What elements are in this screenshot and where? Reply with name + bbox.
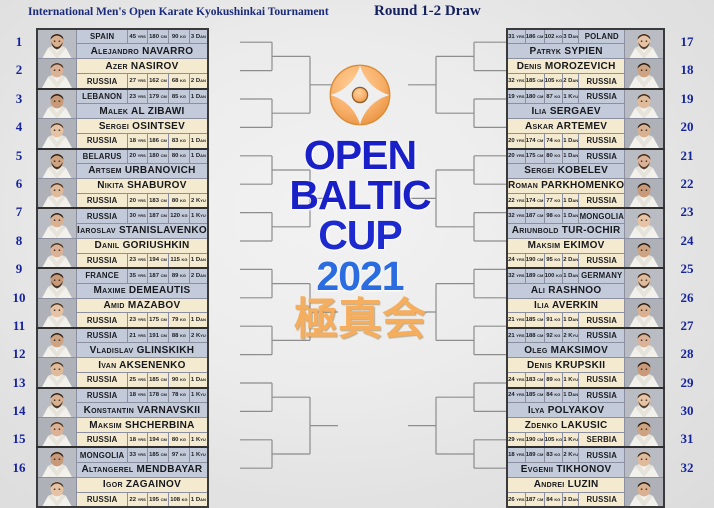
rank-cell: 1 Kyu xyxy=(189,208,208,223)
seed-number: 22 xyxy=(676,170,698,198)
table-row[interactable]: 31 yrs186 cm102 kg3 DanPOLAND xyxy=(507,29,664,44)
age-cell: 25 yrs xyxy=(128,373,148,388)
country-cell: RUSSIA xyxy=(77,433,128,448)
athlete-name: Patryk SYPIEN xyxy=(507,44,625,59)
athlete-name: Zdenko LAKUSIC xyxy=(507,418,625,433)
seed-number: 19 xyxy=(676,85,698,113)
age-cell: 32 yrs xyxy=(507,208,525,223)
table-row[interactable]: MONGOLIA33 yrs185 cm97 kg1 Kyu xyxy=(37,447,208,462)
athlete-name: Maksim SHCHERBINA xyxy=(77,418,208,433)
athlete-photo xyxy=(37,59,77,89)
athlete-photo xyxy=(37,418,77,448)
country-cell: LEBANON xyxy=(77,89,128,104)
athlete-name: Ilia AVERKIN xyxy=(507,298,625,313)
country-cell: RUSSIA xyxy=(77,74,128,89)
height-cell: 175 cm xyxy=(147,313,168,328)
table-row[interactable]: 19 yrs180 cm87 kg1 KyuRUSSIA xyxy=(507,89,664,104)
seed-number: 27 xyxy=(676,312,698,340)
height-cell: 185 cm xyxy=(147,373,168,388)
height-cell: 180 cm xyxy=(147,29,168,44)
weight-cell: 84 kg xyxy=(544,388,563,403)
country-cell: RUSSIA xyxy=(77,313,128,328)
height-cell: 174 cm xyxy=(525,193,544,208)
age-cell: 45 yrs xyxy=(128,29,148,44)
country-cell: BELARUS xyxy=(77,149,128,164)
country-cell: RUSSIA xyxy=(77,193,128,208)
table-row[interactable]: FRANCE35 yrs187 cm89 kg2 Dan xyxy=(37,268,208,283)
table-row[interactable]: 20 yrs175 cm80 kg1 DanRUSSIA xyxy=(507,149,664,164)
athlete-photo xyxy=(625,119,665,149)
height-cell: 178 cm xyxy=(147,388,168,403)
athlete-photo xyxy=(625,238,665,268)
seed-number: 23 xyxy=(676,198,698,226)
logo-line-4: 2021 xyxy=(276,256,444,296)
country-cell: RUSSIA xyxy=(579,373,625,388)
height-cell: 188 cm xyxy=(525,328,544,343)
rank-cell: 3 Dan xyxy=(563,492,579,507)
height-cell: 191 cm xyxy=(147,328,168,343)
age-cell: 30 yrs xyxy=(128,208,148,223)
height-cell: 180 cm xyxy=(525,89,544,104)
table-row[interactable]: Askar ARTEMEV xyxy=(507,119,664,134)
height-cell: 180 cm xyxy=(147,149,168,164)
country-cell: POLAND xyxy=(579,29,625,44)
height-cell: 190 cm xyxy=(525,253,544,268)
weight-cell: 80 kg xyxy=(169,193,190,208)
athlete-name: Sergei KOBELEV xyxy=(507,164,625,179)
weight-cell: 85 kg xyxy=(169,89,190,104)
rank-cell: 1 Dan xyxy=(189,149,208,164)
logo-line-3: CUP xyxy=(276,215,444,255)
table-row[interactable]: BELARUS20 yrs180 cm80 kg1 Dan xyxy=(37,149,208,164)
seed-number: 4 xyxy=(8,113,30,141)
country-cell: FRANCE xyxy=(77,268,128,283)
height-cell: 179 cm xyxy=(147,89,168,104)
age-cell: 32 yrs xyxy=(507,74,525,89)
age-cell: 20 yrs xyxy=(128,193,148,208)
athlete-photo xyxy=(37,29,77,59)
height-cell: 162 cm xyxy=(147,74,168,89)
seed-number: 18 xyxy=(676,56,698,84)
athlete-photo xyxy=(625,418,665,448)
weight-cell: 80 kg xyxy=(169,149,190,164)
table-row[interactable]: LEBANON23 yrs179 cm85 kg1 Dan xyxy=(37,89,208,104)
athlete-photo xyxy=(625,328,665,358)
age-cell: 18 yrs xyxy=(128,134,148,149)
seed-number: 24 xyxy=(676,227,698,255)
weight-cell: 78 kg xyxy=(169,388,190,403)
rank-cell: 3 Dan xyxy=(563,29,579,44)
seed-number: 2 xyxy=(8,56,30,84)
country-cell: RUSSIA xyxy=(579,253,625,268)
athlete-name: Malek AL ZIBAWI xyxy=(77,104,208,119)
table-row[interactable]: Denis KRUPSKII xyxy=(507,358,664,373)
table-row[interactable]: Maksim SHCHERBINA xyxy=(37,418,208,433)
height-cell: 186 cm xyxy=(525,29,544,44)
athlete-photo xyxy=(37,358,77,388)
rank-cell: 1 Kyu xyxy=(189,388,208,403)
height-cell: 195 cm xyxy=(147,492,168,507)
athlete-photo xyxy=(37,268,77,298)
height-cell: 183 cm xyxy=(525,373,544,388)
athlete-photo xyxy=(37,208,77,238)
kanku-icon xyxy=(327,62,393,128)
weight-cell: 115 kg xyxy=(169,253,190,268)
age-cell: 33 yrs xyxy=(128,447,148,462)
rank-cell: 1 Dan xyxy=(189,373,208,388)
age-cell: 19 yrs xyxy=(507,89,525,104)
athlete-name: Danil GORIUSHKIN xyxy=(77,238,208,253)
country-cell: MONGOLIA xyxy=(77,447,128,462)
weight-cell: 68 kg xyxy=(169,74,190,89)
athlete-name: Ariunbold TUR-OCHIR xyxy=(507,223,625,238)
country-cell: RUSSIA xyxy=(579,134,625,149)
height-cell: 185 cm xyxy=(147,447,168,462)
athlete-name: Azer NASIROV xyxy=(77,59,208,74)
kyokushin-kanji: 極真会 xyxy=(276,302,444,338)
athlete-name: Maksim EKIMOV xyxy=(507,238,625,253)
right-seed-numbers: 17181920212223242526272829303132 xyxy=(676,28,698,482)
athlete-photo xyxy=(625,388,665,418)
height-cell: 183 cm xyxy=(147,193,168,208)
country-cell: SPAIN xyxy=(77,29,128,44)
seed-number: 25 xyxy=(676,255,698,283)
table-row[interactable]: Amid MAZABOV xyxy=(37,298,208,313)
athlete-name: Vladislav GLINSKIKH xyxy=(77,343,208,358)
weight-cell: 88 kg xyxy=(169,328,190,343)
athlete-name: Maxime DEMEAUTIS xyxy=(77,283,208,298)
athlete-photo xyxy=(37,447,77,477)
age-cell: 21 yrs xyxy=(507,313,525,328)
weight-cell: 100 kg xyxy=(544,268,563,283)
age-cell: 31 yrs xyxy=(507,29,525,44)
weight-cell: 79 kg xyxy=(169,313,190,328)
table-row[interactable]: Roman PARKHOMENKO xyxy=(507,178,664,193)
seed-number: 26 xyxy=(676,284,698,312)
athlete-photo xyxy=(37,178,77,208)
weight-cell: 77 kg xyxy=(544,193,563,208)
seed-number: 5 xyxy=(8,142,30,170)
athlete-name: Roman PARKHOMENKO xyxy=(507,178,625,193)
table-row[interactable]: Azer NASIROV xyxy=(37,59,208,74)
country-cell: RUSSIA xyxy=(77,373,128,388)
age-cell: 32 yrs xyxy=(507,268,525,283)
athlete-photo xyxy=(37,89,77,119)
tournament-logo: OPEN BALTIC CUP 2021 極真会 xyxy=(276,62,444,338)
height-cell: 174 cm xyxy=(525,134,544,149)
country-cell: RUSSIA xyxy=(579,74,625,89)
table-row[interactable]: Andrei LUZIN xyxy=(507,477,664,492)
age-cell: 21 yrs xyxy=(507,328,525,343)
age-cell: 24 yrs xyxy=(507,373,525,388)
logo-line-1: OPEN xyxy=(276,135,444,175)
rank-cell: 1 Dan xyxy=(563,313,579,328)
country-cell: RUSSIA xyxy=(579,388,625,403)
weight-cell: 90 kg xyxy=(169,373,190,388)
weight-cell: 83 kg xyxy=(544,447,563,462)
athlete-photo xyxy=(37,298,77,328)
rank-cell: 1 Dan xyxy=(189,313,208,328)
country-cell: RUSSIA xyxy=(579,492,625,507)
height-cell: 187 cm xyxy=(525,492,544,507)
age-cell: 24 yrs xyxy=(507,253,525,268)
athlete-photo xyxy=(625,59,665,89)
seed-number: 3 xyxy=(8,85,30,113)
seed-number: 16 xyxy=(8,454,30,482)
rank-cell: 1 Dan xyxy=(189,89,208,104)
height-cell: 189 cm xyxy=(525,447,544,462)
rank-cell: 1 Dan xyxy=(563,208,579,223)
athlete-photo xyxy=(625,89,665,119)
table-row[interactable]: Ilia AVERKIN xyxy=(507,298,664,313)
country-cell: MONGOLIA xyxy=(579,208,625,223)
country-cell: RUSSIA xyxy=(579,89,625,104)
table-row[interactable]: 21 yrs188 cm92 kg2 KyuRUSSIA xyxy=(507,328,664,343)
height-cell: 194 cm xyxy=(147,433,168,448)
seed-number: 12 xyxy=(8,340,30,368)
height-cell: 189 cm xyxy=(525,268,544,283)
seed-number: 28 xyxy=(676,340,698,368)
seed-number: 14 xyxy=(8,397,30,425)
rank-cell: 1 Kyu xyxy=(563,373,579,388)
rank-cell: 1 Dan xyxy=(563,388,579,403)
athlete-name: Alejandro NAVARRO xyxy=(77,44,208,59)
country-cell: RUSSIA xyxy=(579,313,625,328)
table-row[interactable]: SPAIN45 yrs180 cm90 kg3 Dan xyxy=(37,29,208,44)
seed-number: 6 xyxy=(8,170,30,198)
weight-cell: 80 kg xyxy=(169,433,190,448)
left-seed-numbers: 12345678910111213141516 xyxy=(8,28,30,482)
table-row[interactable]: Ivan AKSENENKO xyxy=(37,358,208,373)
athlete-name: Amid MAZABOV xyxy=(77,298,208,313)
logo-line-2: BALTIC xyxy=(276,175,444,215)
rank-cell: 2 Kyu xyxy=(189,193,208,208)
table-row[interactable]: Igor ZAGAINOV xyxy=(37,477,208,492)
seed-number: 29 xyxy=(676,369,698,397)
height-cell: 186 cm xyxy=(147,134,168,149)
seed-number: 30 xyxy=(676,397,698,425)
age-cell: 20 yrs xyxy=(128,149,148,164)
age-cell: 22 yrs xyxy=(507,193,525,208)
height-cell: 175 cm xyxy=(525,149,544,164)
rank-cell: 2 Dan xyxy=(189,268,208,283)
left-bracket-table: SPAIN45 yrs180 cm90 kg3 DanAlejandro NAV… xyxy=(36,28,209,508)
rank-cell: 3 Dan xyxy=(189,29,208,44)
country-cell: GERMANY xyxy=(579,268,625,283)
athlete-photo xyxy=(625,477,665,507)
seed-number: 1 xyxy=(8,28,30,56)
athlete-name: Konstantin VARNAVSKII xyxy=(77,403,208,418)
athlete-photo xyxy=(37,388,77,418)
table-row[interactable]: Sergei OSINTSEV xyxy=(37,119,208,134)
seed-number: 13 xyxy=(8,369,30,397)
athlete-name: Sergei OSINTSEV xyxy=(77,119,208,134)
athlete-name: Ivan AKSENENKO xyxy=(77,358,208,373)
country-cell: RUSSIA xyxy=(77,253,128,268)
athlete-name: Denis KRUPSKII xyxy=(507,358,625,373)
age-cell: 20 yrs xyxy=(507,149,525,164)
age-cell: 23 yrs xyxy=(128,313,148,328)
height-cell: 185 cm xyxy=(525,388,544,403)
height-cell: 187 cm xyxy=(147,208,168,223)
table-row[interactable]: 32 yrs189 cm100 kg1 DanGERMANY xyxy=(507,268,664,283)
age-cell: 20 yrs xyxy=(507,134,525,149)
country-cell: SERBIA xyxy=(579,433,625,448)
rank-cell: 1 Kyu xyxy=(189,433,208,448)
seed-number: 9 xyxy=(8,255,30,283)
athlete-photo xyxy=(625,268,665,298)
country-cell: RUSSIA xyxy=(77,388,128,403)
rank-cell: 1 Dan xyxy=(563,149,579,164)
rank-cell: 1 Dan xyxy=(189,134,208,149)
athlete-photo xyxy=(625,358,665,388)
table-row[interactable]: Denis MOROZEVICH xyxy=(507,59,664,74)
weight-cell: 83 kg xyxy=(169,134,190,149)
athlete-photo xyxy=(37,149,77,179)
age-cell: 22 yrs xyxy=(128,492,148,507)
country-cell: RUSSIA xyxy=(579,328,625,343)
right-bracket-table: 31 yrs186 cm102 kg3 DanPOLANDPatryk SYPI… xyxy=(506,28,665,508)
country-cell: RUSSIA xyxy=(77,328,128,343)
header-bar: International Men's Open Karate Kyokushi… xyxy=(0,0,714,26)
rank-cell: 2 Dan xyxy=(563,253,579,268)
athlete-name: Artsem URBANOVICH xyxy=(77,164,208,179)
weight-cell: 91 kg xyxy=(544,313,563,328)
athlete-name: Nikita SHABUROV xyxy=(77,178,208,193)
height-cell: 190 cm xyxy=(525,433,544,448)
weight-cell: 108 kg xyxy=(169,492,190,507)
age-cell: 24 yrs xyxy=(507,388,525,403)
athlete-name: Askar ARTEMEV xyxy=(507,119,625,134)
weight-cell: 105 kg xyxy=(544,74,563,89)
athlete-photo xyxy=(625,29,665,59)
athlete-photo xyxy=(37,238,77,268)
rank-cell: 2 Dan xyxy=(563,74,579,89)
table-row[interactable]: 32 yrs187 cm98 kg1 DanMONGOLIA xyxy=(507,208,664,223)
weight-cell: 89 kg xyxy=(169,268,190,283)
age-cell: 29 yrs xyxy=(507,433,525,448)
table-row[interactable]: Nikita SHABUROV xyxy=(37,178,208,193)
country-cell: RUSSIA xyxy=(77,492,128,507)
weight-cell: 90 kg xyxy=(169,29,190,44)
page-title: International Men's Open Karate Kyokushi… xyxy=(28,6,329,18)
rank-cell: 1 Dan xyxy=(563,193,579,208)
rank-cell: 2 Dan xyxy=(189,74,208,89)
weight-cell: 87 kg xyxy=(544,89,563,104)
table-row[interactable]: Maksim EKIMOV xyxy=(507,238,664,253)
athlete-name: Evgenii TIKHONOV xyxy=(507,462,625,477)
age-cell: 18 yrs xyxy=(128,433,148,448)
weight-cell: 105 kg xyxy=(544,433,563,448)
weight-cell: 98 kg xyxy=(544,208,563,223)
athlete-name: Ali RASHNOO xyxy=(507,283,625,298)
seed-number: 10 xyxy=(8,284,30,312)
seed-number: 11 xyxy=(8,312,30,340)
age-cell: 35 yrs xyxy=(128,268,148,283)
weight-cell: 120 kg xyxy=(169,208,190,223)
height-cell: 185 cm xyxy=(525,313,544,328)
rank-cell: 1 Kyu xyxy=(563,433,579,448)
athlete-photo xyxy=(37,328,77,358)
athlete-photo xyxy=(625,178,665,208)
seed-number: 20 xyxy=(676,113,698,141)
age-cell: 26 yrs xyxy=(507,492,525,507)
table-row[interactable]: 24 yrs185 cm84 kg1 DanRUSSIA xyxy=(507,388,664,403)
weight-cell: 84 kg xyxy=(544,492,563,507)
athlete-name: Oleg MAKSIMOV xyxy=(507,343,625,358)
rank-cell: 2 Kyu xyxy=(563,447,579,462)
weight-cell: 80 kg xyxy=(544,149,563,164)
rank-cell: 2 Kyu xyxy=(189,328,208,343)
seed-number: 17 xyxy=(676,28,698,56)
right-bracket: 31 yrs186 cm102 kg3 DanPOLANDPatryk SYPI… xyxy=(506,28,665,508)
rank-cell: 2 Kyu xyxy=(563,328,579,343)
country-cell: RUSSIA xyxy=(77,208,128,223)
athlete-name: Ilya POLYAKOV xyxy=(507,403,625,418)
seed-number: 31 xyxy=(676,425,698,453)
age-cell: 27 yrs xyxy=(128,74,148,89)
seed-number: 7 xyxy=(8,198,30,226)
seed-number: 32 xyxy=(676,454,698,482)
seed-number: 21 xyxy=(676,142,698,170)
rank-cell: 1 Kyu xyxy=(563,89,579,104)
height-cell: 187 cm xyxy=(525,208,544,223)
age-cell: 21 yrs xyxy=(128,328,148,343)
athlete-photo xyxy=(625,298,665,328)
weight-cell: 92 kg xyxy=(544,328,563,343)
table-row[interactable]: Zdenko LAKUSIC xyxy=(507,418,664,433)
height-cell: 194 cm xyxy=(147,253,168,268)
table-row[interactable]: Danil GORIUSHKIN xyxy=(37,238,208,253)
round-title: Round 1-2 Draw xyxy=(374,3,481,20)
athlete-name: Denis MOROZEVICH xyxy=(507,59,625,74)
weight-cell: 95 kg xyxy=(544,253,563,268)
country-cell: RUSSIA xyxy=(579,193,625,208)
weight-cell: 74 kg xyxy=(544,134,563,149)
athlete-name: Iaroslav STANISLAVENKO xyxy=(77,223,208,238)
rank-cell: 1 Dan xyxy=(189,492,208,507)
rank-cell: 1 Kyu xyxy=(189,447,208,462)
athlete-photo xyxy=(625,208,665,238)
athlete-photo xyxy=(625,447,665,477)
athlete-name: Andrei LUZIN xyxy=(507,477,625,492)
height-cell: 185 cm xyxy=(525,74,544,89)
age-cell: 18 yrs xyxy=(507,447,525,462)
athlete-name: Ilia SERGAEV xyxy=(507,104,625,119)
athlete-photo xyxy=(37,477,77,507)
table-row[interactable]: RUSSIA30 yrs187 cm120 kg1 Kyu xyxy=(37,208,208,223)
table-row[interactable]: RUSSIA18 yrs178 cm78 kg1 Kyu xyxy=(37,388,208,403)
athlete-photo xyxy=(37,119,77,149)
age-cell: 18 yrs xyxy=(128,388,148,403)
rank-cell: 1 Dan xyxy=(563,268,579,283)
country-cell: RUSSIA xyxy=(579,149,625,164)
weight-cell: 97 kg xyxy=(169,447,190,462)
rank-cell: 1 Dan xyxy=(563,134,579,149)
age-cell: 23 yrs xyxy=(128,89,148,104)
seed-number: 8 xyxy=(8,227,30,255)
athlete-photo xyxy=(625,149,665,179)
table-row[interactable]: 18 yrs189 cm83 kg2 KyuRUSSIA xyxy=(507,447,664,462)
weight-cell: 102 kg xyxy=(544,29,563,44)
rank-cell: 1 Dan xyxy=(189,253,208,268)
weight-cell: 89 kg xyxy=(544,373,563,388)
seed-number: 15 xyxy=(8,425,30,453)
athlete-name: Altangerel MENDBAYAR xyxy=(77,462,208,477)
age-cell: 23 yrs xyxy=(128,253,148,268)
table-row[interactable]: RUSSIA21 yrs191 cm88 kg2 Kyu xyxy=(37,328,208,343)
country-cell: RUSSIA xyxy=(579,447,625,462)
